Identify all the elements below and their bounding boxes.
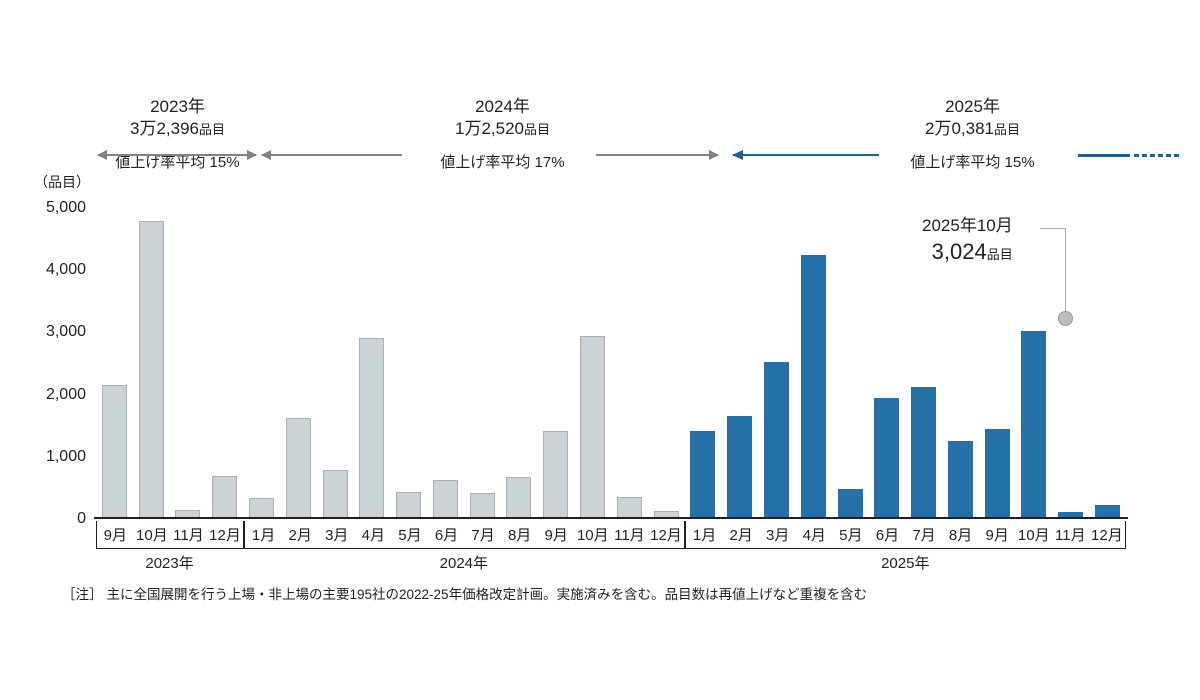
arrow-shaft bbox=[733, 154, 879, 156]
bar[interactable] bbox=[433, 480, 458, 519]
bar-slot bbox=[501, 208, 538, 519]
bar[interactable] bbox=[948, 441, 973, 519]
annotation-group-2025: 2025年 2万0,381品目 値上げ率平均 15% bbox=[880, 96, 1065, 173]
x-axis-year-label: 2023年 bbox=[145, 552, 193, 573]
bar[interactable] bbox=[102, 385, 127, 519]
annotation-amount-2025: 2万0,381品目 bbox=[880, 118, 1065, 141]
bar-slot bbox=[685, 208, 722, 519]
bar-slot bbox=[832, 208, 869, 519]
y-tick-1000: 1,000 bbox=[46, 448, 86, 466]
annotation-band: 2023年 3万2,396品目 値上げ率平均 15% 2024年 1万2,520… bbox=[0, 96, 1200, 186]
legend-line-2025 bbox=[1078, 153, 1180, 157]
callout-2025-10: 2025年10月 3,024品目 bbox=[922, 214, 1013, 269]
bar[interactable] bbox=[286, 418, 311, 519]
bar-slot bbox=[795, 208, 832, 519]
bar-slot bbox=[243, 208, 280, 519]
arrow-shaft bbox=[262, 154, 402, 156]
bar[interactable] bbox=[985, 429, 1010, 519]
y-tick-5000: 5,000 bbox=[46, 199, 86, 217]
bar[interactable] bbox=[580, 336, 605, 519]
bar[interactable] bbox=[249, 498, 274, 519]
bar[interactable] bbox=[396, 492, 421, 519]
bar[interactable] bbox=[212, 476, 237, 519]
annotation-rate-2023: 値上げ率平均 15% bbox=[100, 153, 255, 173]
arrow-head-left-icon bbox=[732, 150, 743, 160]
x-axis-month-cell: 4月 bbox=[355, 521, 392, 548]
legend-solid-segment bbox=[1078, 154, 1130, 157]
bar[interactable] bbox=[470, 493, 495, 519]
x-axis-month-cell: 3月 bbox=[318, 521, 355, 548]
x-axis-month-cell: 1月 bbox=[243, 521, 282, 548]
annotation-group-2023: 2023年 3万2,396品目 値上げ率平均 15% bbox=[100, 96, 255, 173]
y-tick-2000: 2,000 bbox=[46, 386, 86, 404]
footnote-tag: ［注］ bbox=[62, 587, 103, 602]
annotation-rate-2025: 値上げ率平均 15% bbox=[880, 153, 1065, 173]
annotation-group-2024: 2024年 1万2,520品目 値上げ率平均 17% bbox=[410, 96, 595, 173]
bar[interactable] bbox=[359, 338, 384, 519]
y-tick-0: 0 bbox=[77, 510, 86, 528]
arrow-2024-left-segment bbox=[262, 154, 402, 156]
annotation-amount-2023: 3万2,396品目 bbox=[100, 118, 255, 141]
x-axis-month-cell: 2月 bbox=[723, 521, 760, 548]
x-axis-month-cell: 1月 bbox=[684, 521, 723, 548]
x-axis-month-cell: 12月 bbox=[1089, 521, 1126, 548]
x-axis-month-cell: 10月 bbox=[575, 521, 612, 548]
bar-slot bbox=[206, 208, 243, 519]
bar-slot bbox=[1052, 208, 1089, 519]
y-tick-4000: 4,000 bbox=[46, 261, 86, 279]
arrow-shaft bbox=[98, 154, 256, 156]
x-axis-month-cell: 9月 bbox=[97, 521, 134, 548]
y-axis-unit-label: （品目） bbox=[34, 172, 90, 192]
bar[interactable] bbox=[543, 431, 568, 519]
legend-dotted-segment bbox=[1134, 154, 1180, 157]
chart-root: 2023年 3万2,396品目 値上げ率平均 15% 2024年 1万2,520… bbox=[0, 0, 1200, 700]
x-axis-month-cell: 11月 bbox=[170, 521, 207, 548]
callout-period-label: 2025年10月 bbox=[922, 214, 1013, 238]
annotation-rate-2024: 値上げ率平均 17% bbox=[410, 153, 595, 173]
bar-slot bbox=[96, 208, 133, 519]
bar-slot bbox=[1016, 208, 1053, 519]
bar-slot bbox=[574, 208, 611, 519]
bar-slot bbox=[280, 208, 317, 519]
arrow-head-right-icon bbox=[709, 150, 719, 160]
bar[interactable] bbox=[139, 221, 164, 519]
arrow-shaft bbox=[596, 154, 718, 156]
x-axis-month-cell: 3月 bbox=[759, 521, 796, 548]
arrow-head-left-icon bbox=[97, 150, 107, 160]
bar-slot bbox=[648, 208, 685, 519]
callout-value: 3,024品目 bbox=[922, 238, 1013, 269]
x-axis-month-cell: 8月 bbox=[501, 521, 538, 548]
x-axis-month-cell: 5月 bbox=[392, 521, 429, 548]
bar[interactable] bbox=[1021, 331, 1046, 519]
x-axis-month-cell: 5月 bbox=[833, 521, 870, 548]
x-axis-month-cell: 4月 bbox=[796, 521, 833, 548]
bar[interactable] bbox=[506, 477, 531, 519]
bar-slot bbox=[464, 208, 501, 519]
callout-leader-horizontal bbox=[1040, 228, 1066, 229]
bar-slot bbox=[758, 208, 795, 519]
x-axis-month-labels: 9月10月11月12月1月2月3月4月5月6月7月8月9月10月11月12月1月… bbox=[96, 521, 1126, 549]
arrow-head-right-icon bbox=[247, 150, 257, 160]
annotation-year-2025: 2025年 bbox=[880, 96, 1065, 118]
annotation-year-2023: 2023年 bbox=[100, 96, 255, 118]
bar[interactable] bbox=[911, 387, 936, 519]
bar[interactable] bbox=[764, 362, 789, 519]
bar-slot bbox=[427, 208, 464, 519]
callout-marker-dot-icon bbox=[1058, 311, 1073, 326]
annotation-amount-2024: 1万2,520品目 bbox=[410, 118, 595, 141]
arrow-span-2023 bbox=[98, 154, 256, 156]
x-axis-month-cell: 6月 bbox=[428, 521, 465, 548]
bar[interactable] bbox=[617, 497, 642, 519]
x-axis-month-cell: 2月 bbox=[282, 521, 319, 548]
bar-slot bbox=[317, 208, 354, 519]
x-axis-month-cell: 11月 bbox=[1052, 521, 1089, 548]
x-axis-year-label: 2024年 bbox=[440, 552, 488, 573]
x-axis-baseline bbox=[94, 517, 1128, 519]
bar[interactable] bbox=[874, 398, 899, 519]
x-axis-month-cell: 7月 bbox=[906, 521, 943, 548]
bar-slot bbox=[133, 208, 170, 519]
bar-slot bbox=[170, 208, 207, 519]
bar-slot bbox=[537, 208, 574, 519]
bar[interactable] bbox=[690, 431, 715, 519]
bar[interactable] bbox=[801, 255, 826, 519]
x-axis-month-cell: 11月 bbox=[611, 521, 648, 548]
bar-slot bbox=[390, 208, 427, 519]
callout-leader-vertical bbox=[1065, 228, 1066, 312]
annotation-year-2024: 2024年 bbox=[410, 96, 595, 118]
x-axis-year-labels: 2023年2024年2025年 bbox=[96, 552, 1126, 574]
arrow-2024-right-segment bbox=[596, 154, 718, 156]
bar[interactable] bbox=[838, 489, 863, 519]
x-axis-month-cell: 10月 bbox=[1015, 521, 1052, 548]
footnote: ［注］主に全国展開を行う上場・非上場の主要195社の2022-25年価格改定計画… bbox=[62, 583, 867, 603]
bar-slot bbox=[721, 208, 758, 519]
arrow-head-left-icon bbox=[261, 150, 271, 160]
y-tick-3000: 3,000 bbox=[46, 323, 86, 341]
x-axis-month-cell: 10月 bbox=[134, 521, 171, 548]
x-axis-month-cell: 9月 bbox=[538, 521, 575, 548]
x-axis-month-cell: 6月 bbox=[869, 521, 906, 548]
bar-slot bbox=[611, 208, 648, 519]
x-axis-year-label: 2025年 bbox=[881, 552, 929, 573]
x-axis-month-cell: 7月 bbox=[465, 521, 502, 548]
bar[interactable] bbox=[323, 470, 348, 519]
x-axis-month-cell: 12月 bbox=[648, 521, 685, 548]
footnote-text: 主に全国展開を行う上場・非上場の主要195社の2022-25年価格改定計画。実施… bbox=[107, 587, 868, 602]
bar-slot bbox=[868, 208, 905, 519]
x-axis-month-cell: 9月 bbox=[979, 521, 1016, 548]
arrow-2025-left bbox=[733, 154, 879, 156]
bar-slot bbox=[1089, 208, 1126, 519]
bar-slot bbox=[353, 208, 390, 519]
bar[interactable] bbox=[727, 416, 752, 519]
x-axis-month-cell: 12月 bbox=[207, 521, 244, 548]
x-axis-month-cell: 8月 bbox=[942, 521, 979, 548]
